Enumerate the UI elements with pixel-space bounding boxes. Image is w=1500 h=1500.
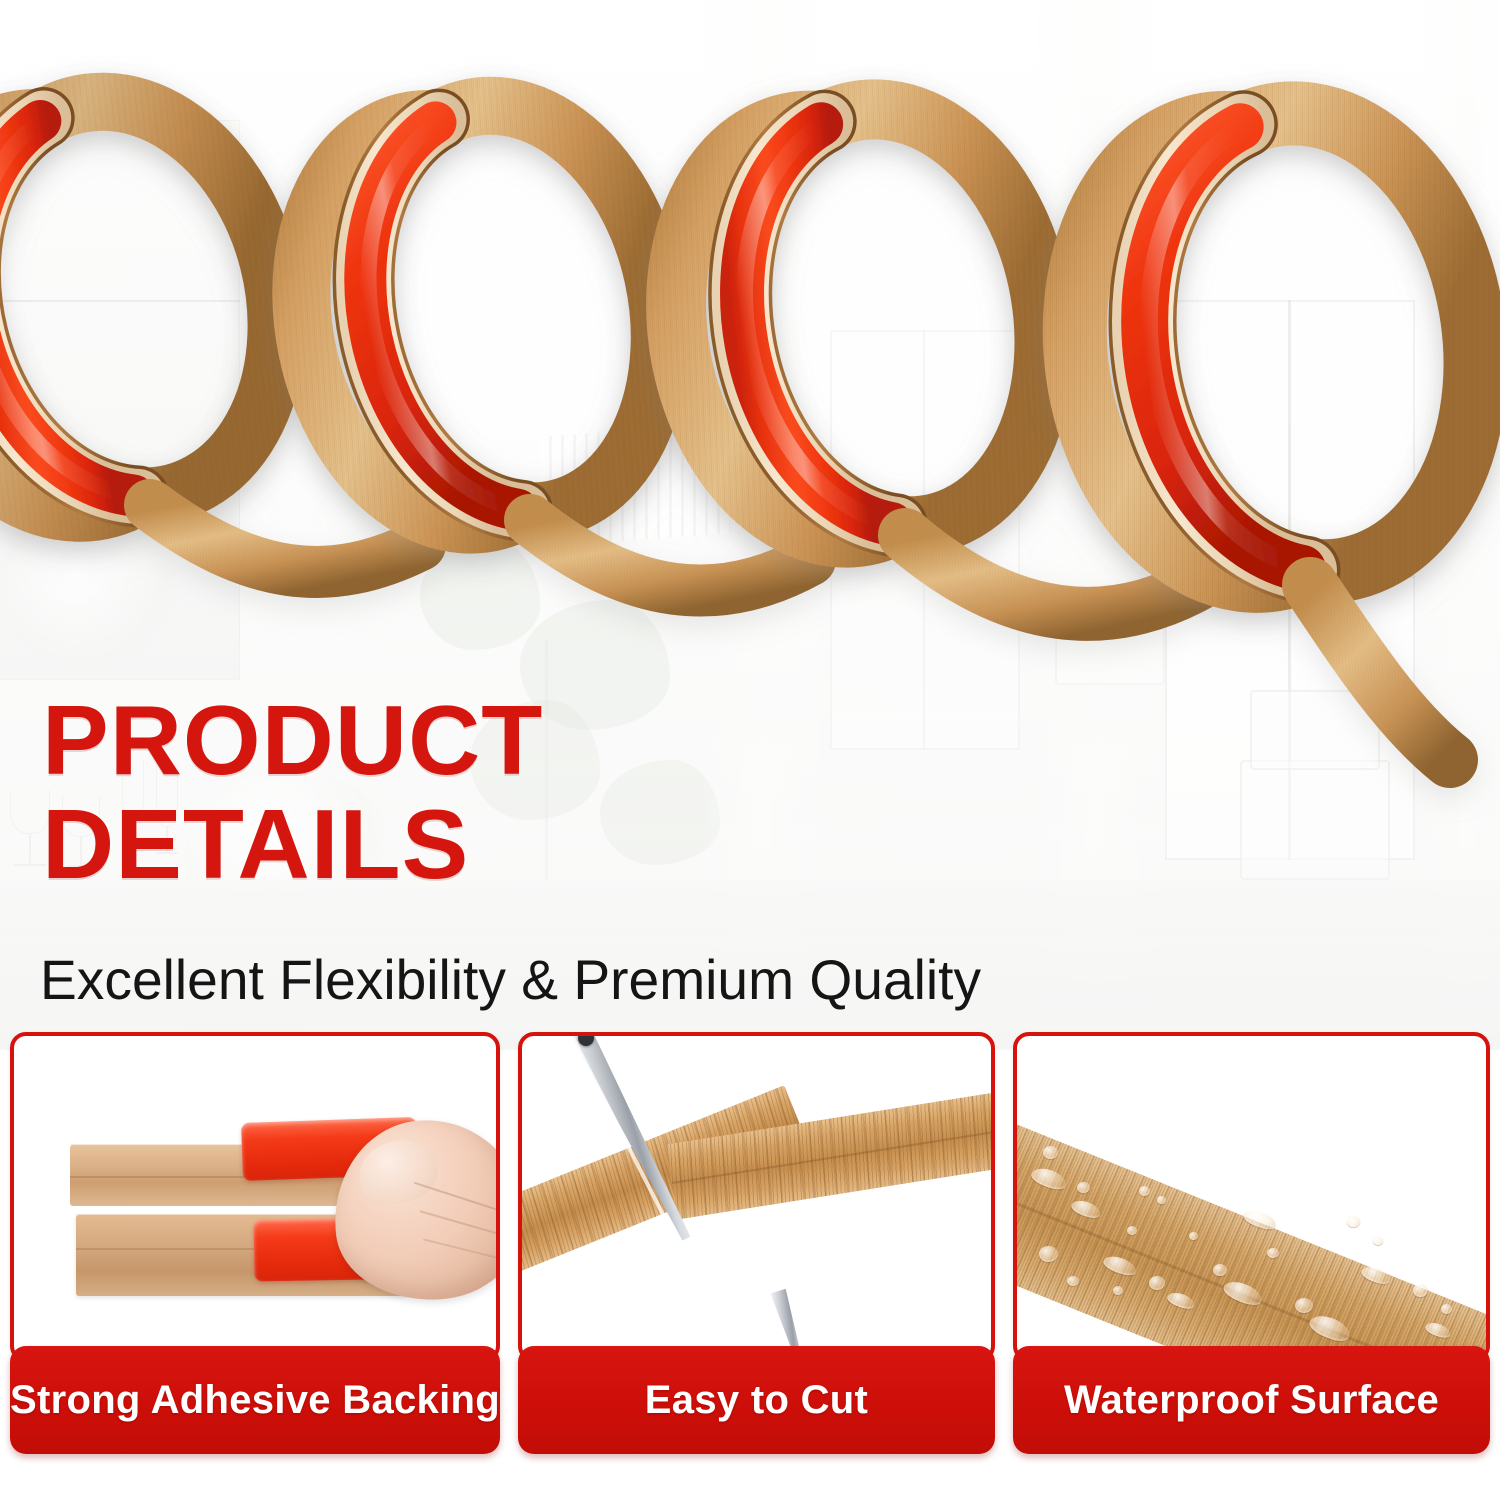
coil-2 (265, 78, 696, 553)
feature-card-waterproof[interactable]: Waterproof Surface (1013, 1032, 1490, 1472)
feature-card-cut[interactable]: Easy to Cut (518, 1032, 995, 1472)
feature-caption-banner: Easy to Cut (518, 1346, 995, 1454)
water-drop-icon (1295, 1298, 1313, 1313)
feature-card-adhesive[interactable]: Strong Adhesive Backing (10, 1032, 500, 1472)
edge-band-strip (666, 1083, 995, 1219)
edge-band-strip-wet (1013, 1111, 1490, 1362)
feature-photo-waterproof (1013, 1032, 1490, 1362)
water-drop-icon (1039, 1246, 1058, 1262)
coil-4 (1046, 92, 1500, 603)
water-drop-icon (1077, 1182, 1090, 1193)
feature-photo-adhesive (10, 1032, 500, 1362)
coil-illustration (0, 0, 1500, 800)
page-title-line-2: DETAILS (42, 792, 1062, 896)
feature-caption-text: Strong Adhesive Backing (10, 1378, 500, 1423)
page-title-line-1: PRODUCT (42, 688, 1062, 792)
water-drop-icon (1113, 1286, 1123, 1295)
water-drop-icon (1413, 1284, 1428, 1297)
feature-caption-text: Waterproof Surface (1064, 1378, 1439, 1423)
water-drop-icon (1157, 1196, 1166, 1204)
coil-3 (644, 85, 1076, 562)
product-detail-infographic: PRODUCT DETAILS Excellent Flexibility & … (0, 0, 1500, 1500)
water-drop-icon (1139, 1186, 1150, 1196)
feature-panel-row: Strong Adhesive Backing Easy t (0, 1032, 1500, 1472)
water-drop-icon (1149, 1276, 1165, 1290)
feature-photo-cut (518, 1032, 995, 1362)
page-subtitle: Excellent Flexibility & Premium Quality (40, 948, 981, 1012)
water-drop-icon (1127, 1226, 1137, 1235)
feature-caption-banner: Strong Adhesive Backing (10, 1346, 500, 1454)
feature-caption-text: Easy to Cut (645, 1378, 868, 1423)
water-drop-icon (1213, 1264, 1227, 1276)
water-drop-icon (1189, 1232, 1198, 1240)
page-title: PRODUCT DETAILS (42, 688, 1042, 896)
hero-edge-banding-coils (0, 0, 1500, 800)
water-drop-icon (1373, 1236, 1383, 1245)
feature-caption-banner: Waterproof Surface (1013, 1346, 1490, 1454)
water-drop-icon (1067, 1276, 1079, 1286)
coil-1 (0, 69, 317, 546)
water-drop-icon (1267, 1248, 1279, 1258)
water-drop-icon (1347, 1216, 1360, 1227)
water-drop-icon (1043, 1146, 1058, 1159)
water-drop-icon (1441, 1304, 1452, 1314)
